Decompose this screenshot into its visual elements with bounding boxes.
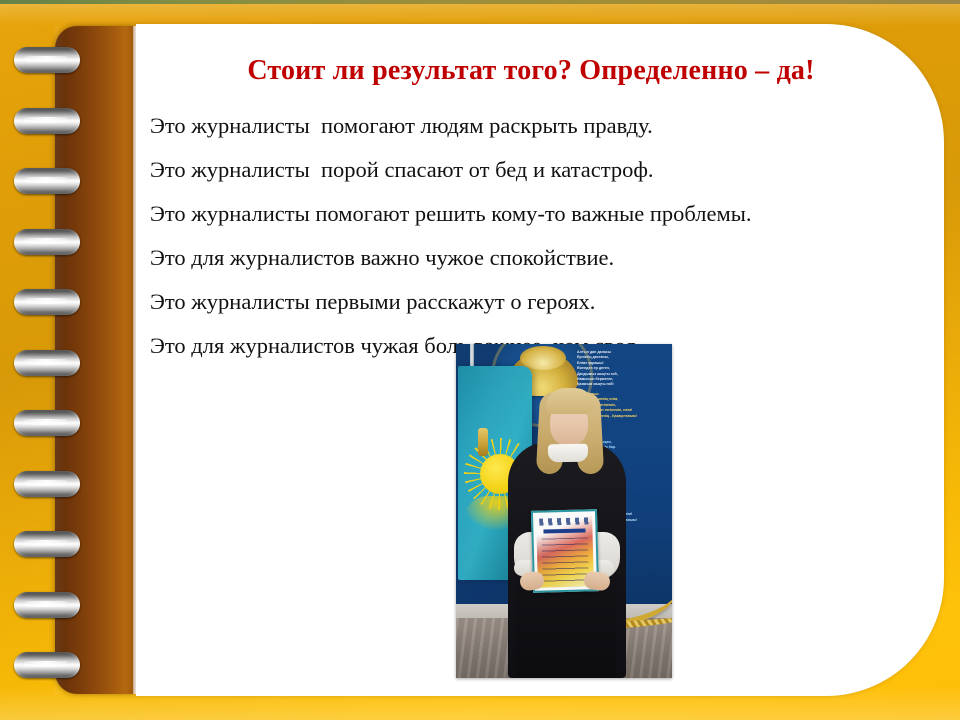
photo-banner-lyrics: Алтын дан даласы Ерліктің дастаны, Еліме… <box>577 350 669 388</box>
body-line: Это журналисты помогают решить кому-то в… <box>150 192 940 236</box>
spiral-ring <box>14 531 80 557</box>
photo-flag-tassel <box>478 428 488 456</box>
photo-person-hair-top <box>546 388 594 414</box>
spiral-ring <box>14 289 80 315</box>
spiral-ring <box>14 229 80 255</box>
spiral-ring <box>14 652 80 678</box>
photo-girl-with-diploma: Алтын дан даласы Ерліктің дастаны, Еліме… <box>456 344 672 678</box>
spiral-ring <box>14 592 80 618</box>
page-title: Стоит ли результат того? Определенно – д… <box>136 54 926 88</box>
slide-canvas: Стоит ли результат того? Определенно – д… <box>0 0 960 720</box>
body-line: Это журналисты первыми расскажут о героя… <box>150 280 940 324</box>
body-text-block: Это журналисты помогают людям раскрыть п… <box>150 104 940 368</box>
spiral-ring <box>14 410 80 436</box>
diploma-text-lines <box>542 537 589 582</box>
spiral-ring <box>14 108 80 134</box>
body-line: Это журналисты помогают людям раскрыть п… <box>150 104 940 148</box>
body-line: Это журналисты порой спасают от бед и ка… <box>150 148 940 192</box>
spiral-ring <box>14 168 80 194</box>
diploma-logo-row <box>539 517 589 525</box>
photo-person-collar <box>548 444 588 463</box>
spiral-ring <box>14 47 80 73</box>
spiral-ring <box>14 350 80 376</box>
body-line: Это для журналистов важно чужое спокойст… <box>150 236 940 280</box>
spiral-ring <box>14 471 80 497</box>
